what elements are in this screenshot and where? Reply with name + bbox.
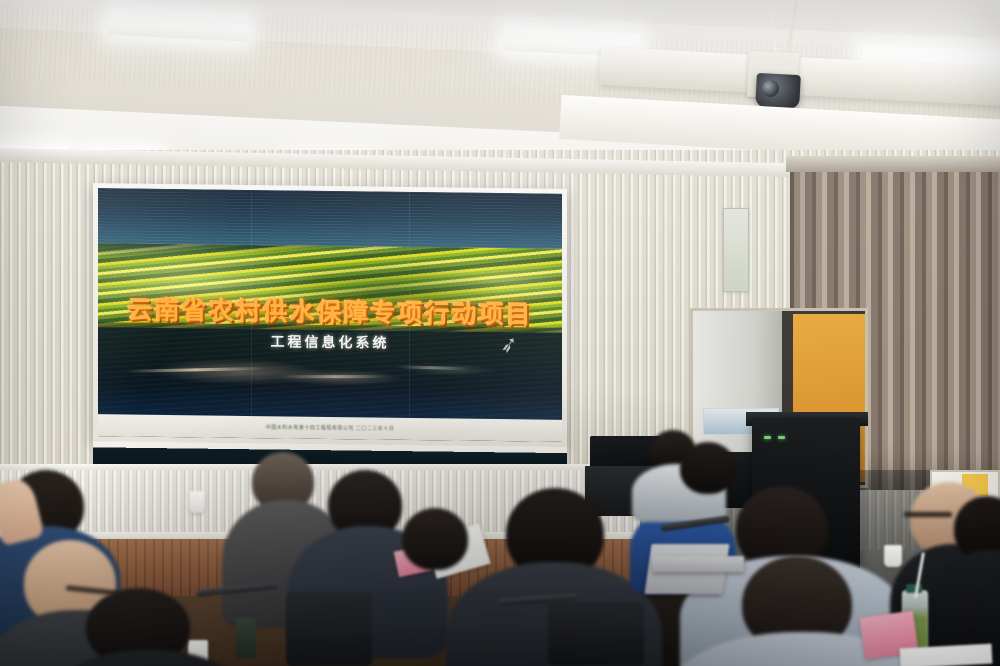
av-status-led-2 xyxy=(778,436,785,439)
head xyxy=(402,508,468,570)
av-status-led-1 xyxy=(764,436,771,439)
slide-light-streak-2 xyxy=(284,374,386,378)
chair-2[interactable] xyxy=(548,602,644,666)
slide-footer-text: 中国水利水电第十四工程局有限公司 二〇二三年十月 xyxy=(98,422,562,435)
projector-lens-icon xyxy=(762,80,779,97)
document-white-2 xyxy=(900,644,993,666)
slide-title: 云南省农村供水保障专项行动项目 xyxy=(98,290,562,332)
curtain-rail xyxy=(786,156,1000,172)
slide-footer-bar: 中国水利水电第十四工程局有限公司 二〇二三年十月 xyxy=(98,414,562,442)
thermos[interactable] xyxy=(236,618,256,658)
wall-mounted-sign xyxy=(723,208,749,292)
screen-seam-2 xyxy=(409,192,410,440)
chair-1[interactable] xyxy=(286,592,372,666)
screen-seam-1 xyxy=(251,190,252,438)
head xyxy=(680,442,736,494)
paper-cup-4 xyxy=(884,545,902,567)
eyeglasses-icon xyxy=(904,512,952,517)
projection-screen-frame: ➶ 云南省农村供水保障专项行动项目 工程信息化系统 中国水利水电第十四工程局有限… xyxy=(93,183,567,447)
paper-cup-1 xyxy=(189,491,205,513)
projection-screen: ➶ 云南省农村供水保障专项行动项目 工程信息化系统 中国水利水电第十四工程局有限… xyxy=(98,188,562,442)
conference-room-photo: ➶ 云南省农村供水保障专项行动项目 工程信息化系统 中国水利水电第十四工程局有限… xyxy=(0,0,1000,666)
laptop-2[interactable] xyxy=(652,556,744,572)
